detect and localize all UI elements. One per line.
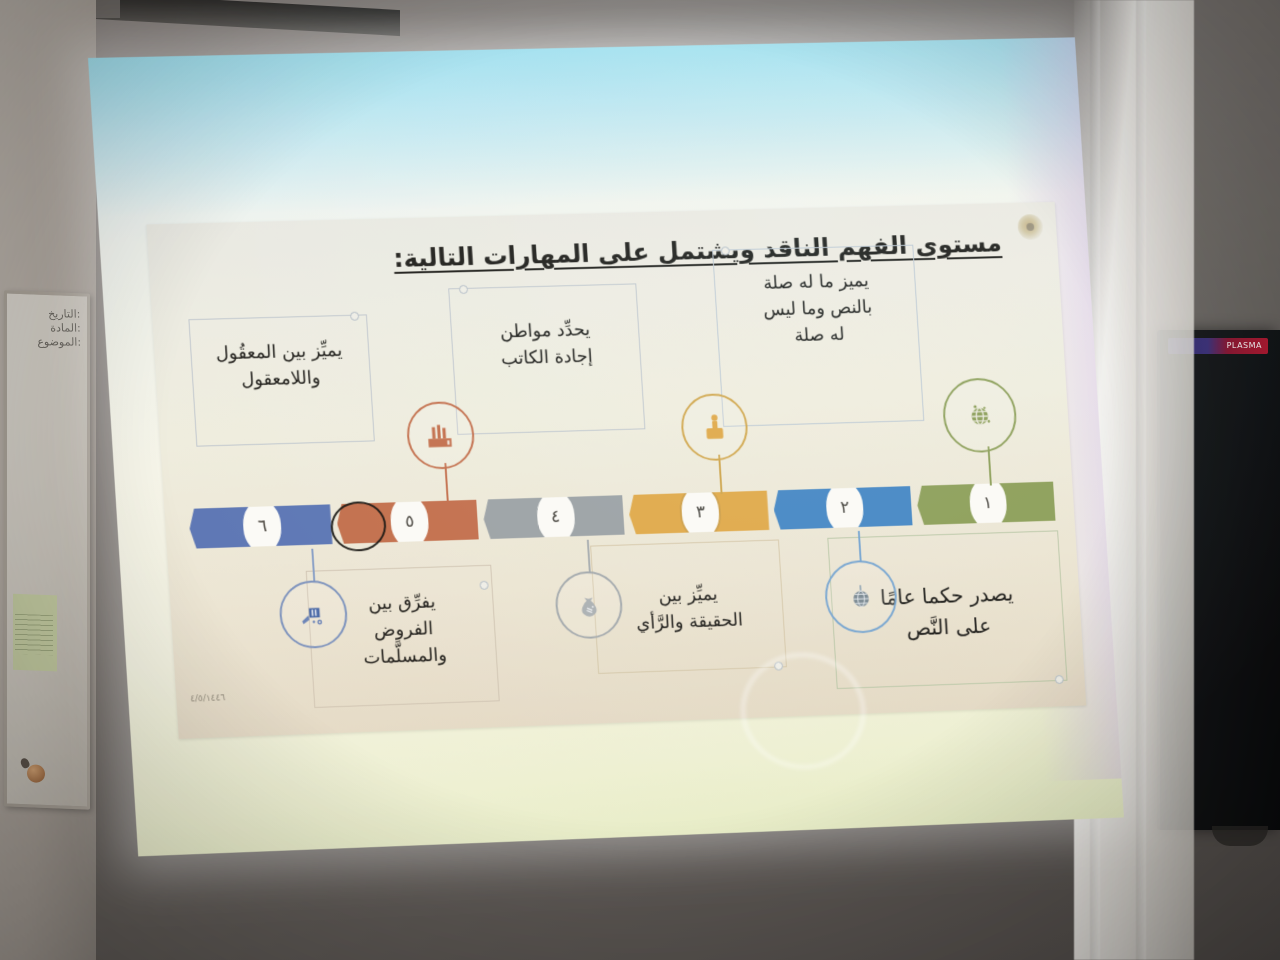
timeline-segment-3[interactable]: ٣ (628, 491, 769, 535)
whiteboard-handwriting: التاريخ: المادة: الموضوع: (37, 307, 82, 349)
timeline-segment-6[interactable]: ٦ (188, 504, 332, 548)
tv-stand (1212, 826, 1268, 846)
timeline-segment-4[interactable]: ٤ (482, 495, 624, 539)
whiteboard-line-topic: الموضوع: (37, 335, 81, 349)
stem-3 (718, 455, 722, 494)
projection-surface: مستوى الفهم الناقد ويشتمل على المهارات ا… (88, 37, 1124, 856)
callout-dot-4 (459, 285, 468, 294)
whiteboard-magnet-icon (27, 764, 45, 783)
item-caption-6: يميِّز بين المعقُول واللامعقول (196, 336, 364, 394)
item-caption-2: يميز ما له صلة بالنص وما ليس له صلة (723, 266, 912, 351)
timeline-node-1[interactable]: ١ (966, 475, 1010, 531)
stem-5 (444, 463, 448, 503)
timeline-node-2[interactable]: ٢ (823, 480, 867, 536)
timeline-node-6[interactable]: ٦ (240, 498, 285, 555)
callout-dot-2 (721, 246, 730, 255)
whiteboard-line-date: التاريخ: (37, 307, 81, 321)
timeline-segment-2[interactable]: ٢ (773, 486, 913, 530)
projection-cyan-cast (88, 37, 1085, 217)
presentation-slide: مستوى الفهم الناقد ويشتمل على المهارات ا… (146, 202, 1086, 739)
stem-1 (987, 446, 991, 485)
timeline-node-3[interactable]: ٣ (679, 484, 723, 540)
curtain-fold (1136, 0, 1146, 960)
callout-dot-3 (774, 661, 783, 670)
slide-datestamp: ٤/٥/١٤٤٦ (190, 693, 226, 704)
whiteboard-green-note (13, 594, 57, 672)
whiteboard: التاريخ: المادة: الموضوع: (4, 290, 90, 809)
whiteboard-line-subject: المادة: (37, 321, 81, 335)
projected-image: مستوى الفهم الناقد ويشتمل على المهارات ا… (88, 37, 1124, 856)
classroom-scene: التاريخ: المادة: الموضوع: PLASMA مستوى ا… (0, 0, 1280, 960)
item-caption-3: يميِّز بين الحقيقة والرَّأي (598, 579, 778, 638)
item-caption-4: يحدِّد مواطن إجادة الكاتب (456, 315, 636, 373)
callout-dot-1 (1055, 675, 1064, 684)
timeline-node-4[interactable]: ٤ (533, 489, 578, 546)
timeline-segment-1[interactable]: ١ (916, 482, 1055, 525)
slide-logo-icon (1017, 214, 1043, 240)
timeline-node-5[interactable]: ٥ (387, 493, 432, 550)
globe-icon (941, 377, 1019, 453)
note-text-lines (15, 614, 53, 655)
